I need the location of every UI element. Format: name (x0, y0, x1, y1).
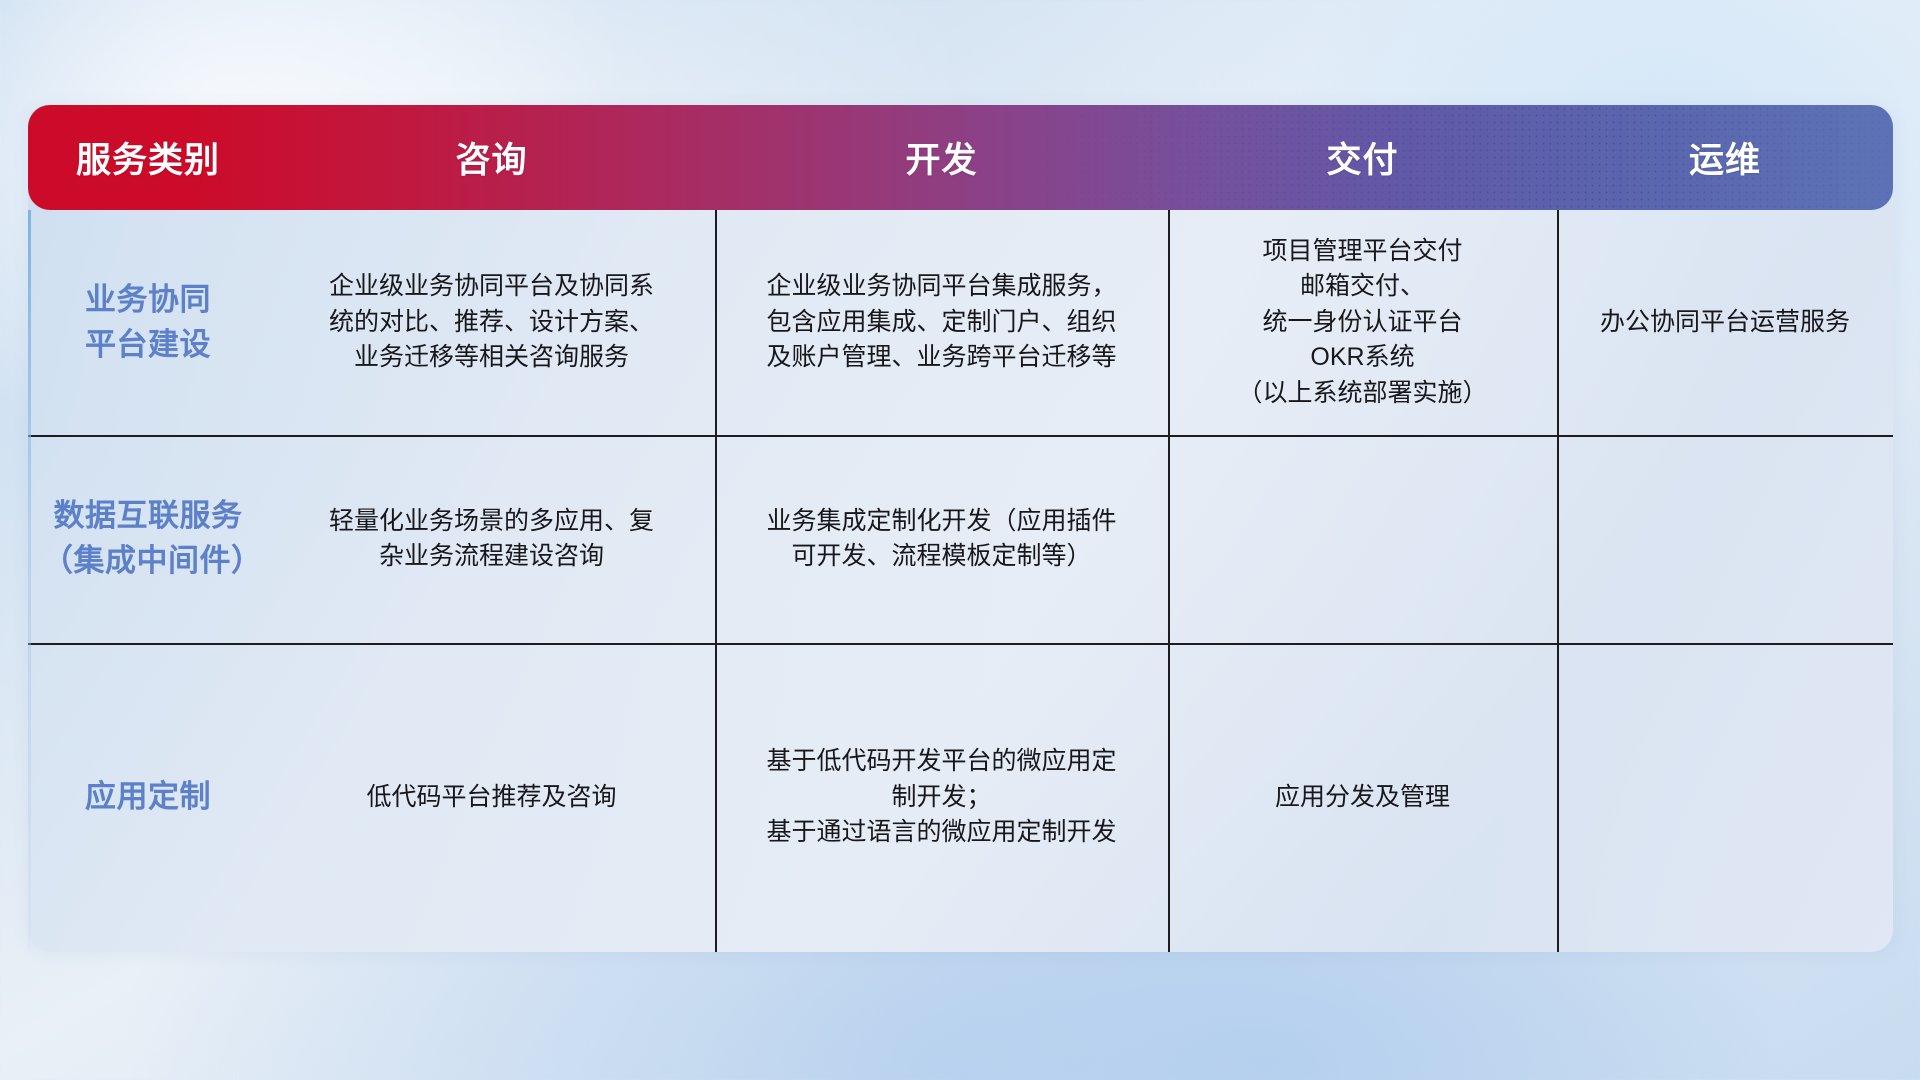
row-divider-1 (28, 435, 1893, 437)
column-header-development: 开发 (715, 132, 1168, 183)
table-row: 数据互联服务 （集成中间件） 轻量化业务场景的多应用、复 杂业务流程建设咨询 业… (28, 435, 1893, 643)
row-divider-2 (28, 643, 1893, 645)
cell-operations (1557, 643, 1893, 952)
column-divider-2 (1168, 210, 1170, 952)
cell-operations (1557, 435, 1893, 643)
cell-operations: 办公协同平台运营服务 (1557, 210, 1893, 435)
cell-consulting: 企业级业务协同平台及协同系 统的对比、推荐、设计方案、 业务迁移等相关咨询服务 (268, 210, 715, 435)
table-row: 应用定制 低代码平台推荐及咨询 基于低代码开发平台的微应用定 制开发； 基于通过… (28, 643, 1893, 952)
column-header-service-category: 服务类别 (28, 132, 268, 183)
table-body: 业务协同 平台建设 企业级业务协同平台及协同系 统的对比、推荐、设计方案、 业务… (28, 210, 1893, 952)
row-category-label: 业务协同 平台建设 (28, 210, 268, 435)
cell-consulting: 低代码平台推荐及咨询 (268, 643, 715, 952)
cell-development: 企业级业务协同平台集成服务， 包含应用集成、定制门户、组织 及账户管理、业务跨平… (715, 210, 1168, 435)
table-row: 业务协同 平台建设 企业级业务协同平台及协同系 统的对比、推荐、设计方案、 业务… (28, 210, 1893, 435)
cell-delivery: 项目管理平台交付 邮箱交付、 统一身份认证平台 OKR系统 （以上系统部署实施） (1168, 210, 1557, 435)
column-header-delivery: 交付 (1168, 132, 1557, 183)
table-left-accent-edge (28, 210, 31, 952)
row-category-label: 数据互联服务 （集成中间件） (28, 435, 268, 643)
column-divider-3 (1557, 210, 1559, 952)
service-matrix-table: 服务类别 咨询 开发 交付 运维 业务协同 平台建设 企业级业务协同平台及协同系… (28, 105, 1893, 952)
table-header-row: 服务类别 咨询 开发 交付 运维 (28, 105, 1893, 210)
cell-delivery (1168, 435, 1557, 643)
column-header-consulting: 咨询 (268, 132, 715, 183)
cell-delivery: 应用分发及管理 (1168, 643, 1557, 952)
row-category-label: 应用定制 (28, 643, 268, 952)
cell-development: 基于低代码开发平台的微应用定 制开发； 基于通过语言的微应用定制开发 (715, 643, 1168, 952)
column-header-operations: 运维 (1557, 132, 1893, 183)
cell-development: 业务集成定制化开发（应用插件 可开发、流程模板定制等） (715, 435, 1168, 643)
column-divider-1 (715, 210, 717, 952)
cell-consulting: 轻量化业务场景的多应用、复 杂业务流程建设咨询 (268, 435, 715, 643)
